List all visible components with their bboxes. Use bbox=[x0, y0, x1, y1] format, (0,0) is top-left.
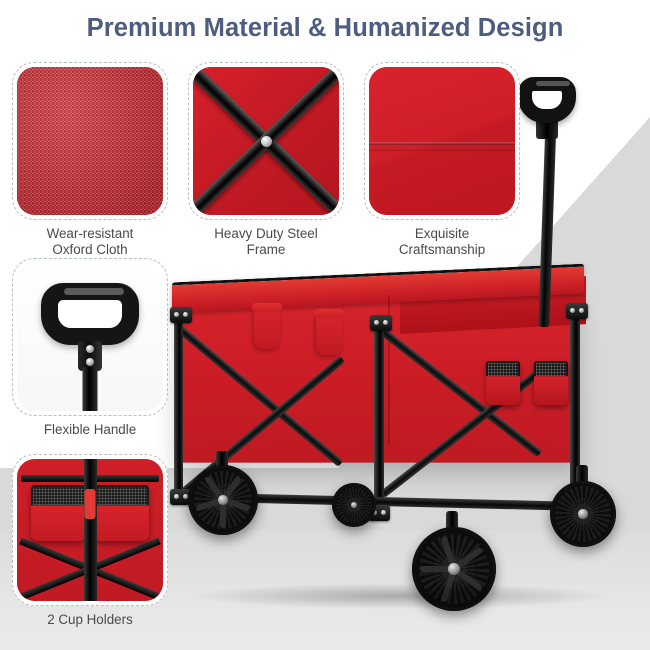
feature-card-cup-holders[interactable] bbox=[12, 454, 168, 606]
feature-caption-fabric: Wear-resistant Oxford Cloth bbox=[2, 226, 178, 257]
cup-holder-right bbox=[94, 485, 149, 541]
product-image-folding-wagon bbox=[150, 265, 650, 640]
caption-line-1: 2 Cup Holders bbox=[2, 612, 178, 628]
infographic-canvas: Premium Material & Humanized Design Wear… bbox=[0, 0, 650, 650]
handle-bolt-upper bbox=[86, 345, 94, 353]
wheel-rear-right bbox=[550, 481, 616, 547]
wagon-cup-holder-2 bbox=[534, 361, 568, 405]
wheel-front-right bbox=[332, 483, 376, 527]
caption-line-1: Heavy Duty Steel bbox=[180, 226, 352, 242]
frame-bracket bbox=[170, 307, 192, 323]
frame-image bbox=[193, 67, 339, 215]
feature-card-fabric[interactable] bbox=[12, 62, 168, 220]
caption-line-2: Oxford Cloth bbox=[2, 242, 178, 258]
frame-post-front bbox=[174, 309, 183, 499]
red-fabric-panel bbox=[369, 67, 515, 215]
tow-handle-grip-icon bbox=[518, 77, 576, 123]
cup-holder-left bbox=[31, 485, 86, 541]
feature-caption-craftsmanship: Exquisite Craftsmanship bbox=[356, 226, 528, 257]
craftsmanship-image bbox=[369, 67, 515, 215]
ground-shadow bbox=[190, 583, 610, 609]
fabric-handle-loop-2 bbox=[316, 313, 342, 355]
center-rivet-icon bbox=[261, 136, 272, 147]
secondary-seam-line bbox=[369, 150, 515, 152]
feature-caption-handle: Flexible Handle bbox=[2, 422, 178, 438]
handle-pole bbox=[83, 367, 98, 411]
frame-bracket bbox=[566, 303, 588, 319]
page-title: Premium Material & Humanized Design bbox=[0, 14, 650, 43]
caption-line-1: Wear-resistant bbox=[2, 226, 178, 242]
caption-line-1: Flexible Handle bbox=[2, 422, 178, 438]
wagon-cup-holder-1 bbox=[486, 361, 520, 405]
handle-bolt-lower bbox=[86, 358, 94, 366]
caption-line-1: Exquisite bbox=[356, 226, 528, 242]
handle-image bbox=[17, 263, 163, 411]
caption-line-2: Craftsmanship bbox=[356, 242, 528, 258]
wheel-front-left bbox=[188, 465, 258, 535]
feature-card-handle[interactable] bbox=[12, 258, 168, 416]
feature-caption-frame: Heavy Duty Steel Frame bbox=[180, 226, 352, 257]
stitched-seam-line bbox=[369, 142, 515, 145]
oxford-weave-texture bbox=[17, 67, 163, 215]
fabric-handle-loop-1 bbox=[254, 307, 280, 349]
d-grip-handle-icon bbox=[41, 283, 139, 345]
caption-line-2: Frame bbox=[180, 242, 352, 258]
center-pole bbox=[84, 459, 97, 601]
red-clip bbox=[85, 489, 96, 519]
feature-card-frame[interactable] bbox=[188, 62, 344, 220]
cup-holders-image bbox=[17, 459, 163, 601]
feature-caption-cup-holders: 2 Cup Holders bbox=[2, 612, 178, 628]
frame-bracket bbox=[370, 315, 392, 331]
feature-card-craftsmanship[interactable] bbox=[364, 62, 520, 220]
fabric-image bbox=[17, 67, 163, 215]
frame-post-middle bbox=[374, 317, 384, 513]
